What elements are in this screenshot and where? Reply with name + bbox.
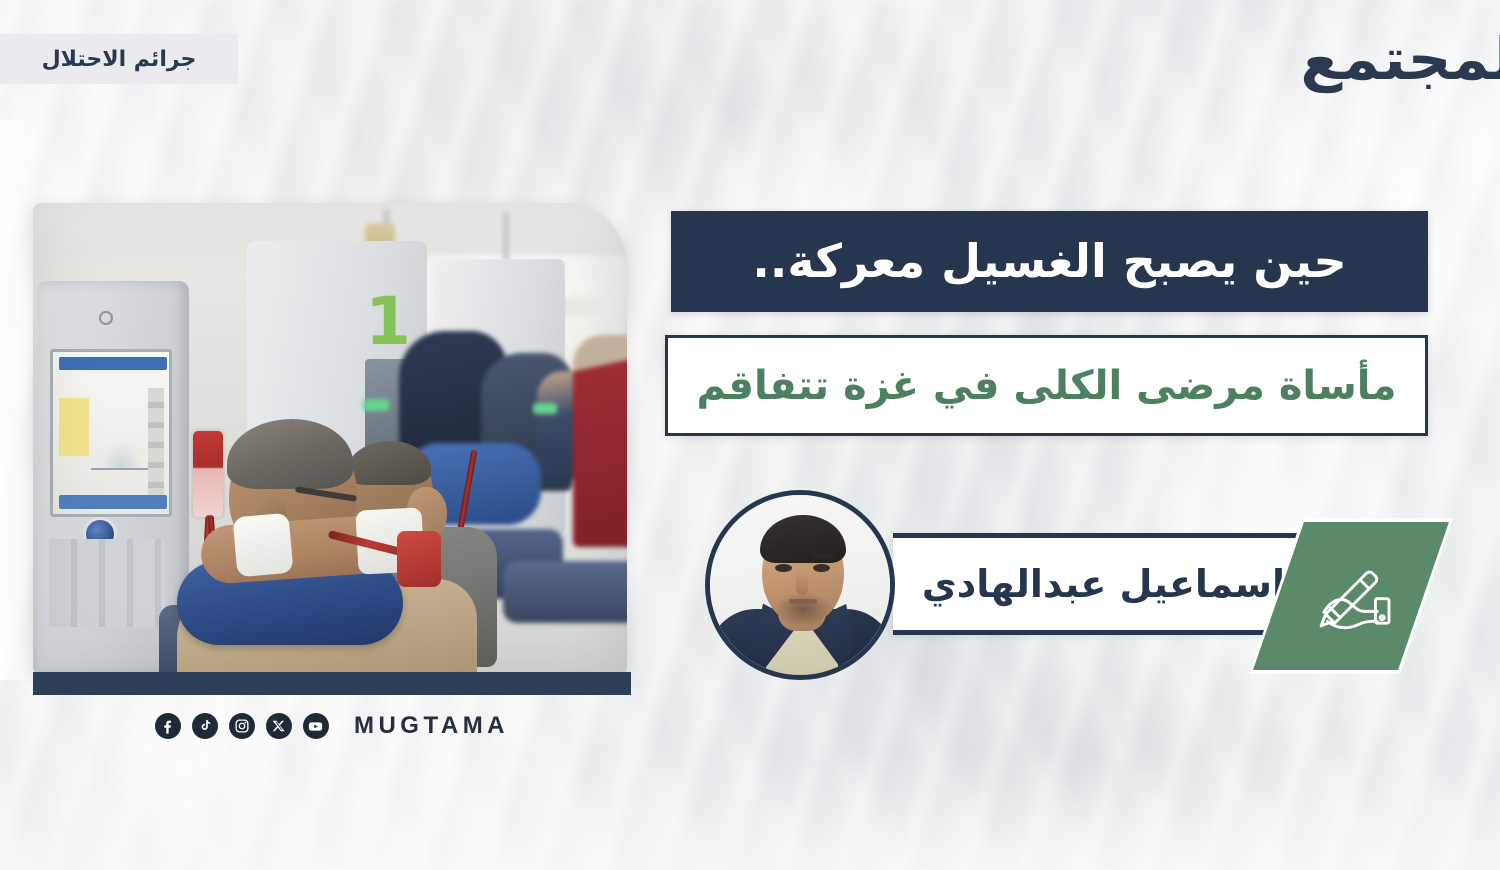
photo-machine-number-1: 1 — [365, 283, 411, 360]
author-pen-badge — [1253, 522, 1449, 670]
mugtama-calligraphy-logo-icon: المجتمع — [1300, 30, 1500, 88]
photo-patient-1-hair — [227, 419, 353, 489]
article-poster: جرائم الاحتلال المجتمع 1 — [0, 0, 1500, 870]
category-tag[interactable]: جرائم الاحتلال — [0, 34, 238, 84]
photo-blood-bag — [397, 531, 441, 587]
photo-machine-led-1 — [363, 399, 389, 411]
article-photo: 1 — [33, 203, 627, 675]
writing-hand-pencil-icon — [1305, 558, 1397, 634]
avatar-eye-left — [775, 564, 792, 572]
avatar-mouth — [789, 599, 817, 604]
photo-machine-led-2 — [533, 403, 557, 414]
youtube-icon[interactable] — [303, 713, 329, 739]
brand-wordmark: MUGTAMA — [354, 712, 509, 740]
author-avatar — [705, 490, 895, 680]
photo-arm-bandage — [232, 513, 293, 578]
article-photo-canvas: 1 — [33, 203, 627, 675]
brand-logo[interactable]: المجتمع — [1358, 16, 1478, 102]
tiktok-icon[interactable] — [192, 713, 218, 739]
photo-background-woman-red — [573, 335, 627, 547]
photo-patient-1-arm — [201, 503, 451, 603]
x-twitter-icon[interactable] — [266, 713, 292, 739]
author-avatar-portrait — [710, 495, 890, 675]
instagram-icon[interactable] — [229, 713, 255, 739]
facebook-icon[interactable] — [155, 713, 181, 739]
social-bar: MUGTAMA — [33, 706, 631, 746]
photo-underline-bar — [33, 672, 631, 695]
headline-sub: مأساة مرضى الكلى في غزة تتفاقم — [672, 364, 1420, 408]
category-tag-label: جرائم الاحتلال — [42, 47, 197, 72]
avatar-eye-right — [813, 564, 830, 572]
subheadline-box: مأساة مرضى الكلى في غزة تتفاقم — [665, 335, 1428, 436]
background-wash-bottom — [0, 750, 1500, 870]
headline-box: حين يصبح الغسيل معركة.. — [671, 211, 1428, 312]
avatar-nose — [796, 571, 808, 595]
headline-main: حين يصبح الغسيل معركة.. — [726, 236, 1372, 287]
